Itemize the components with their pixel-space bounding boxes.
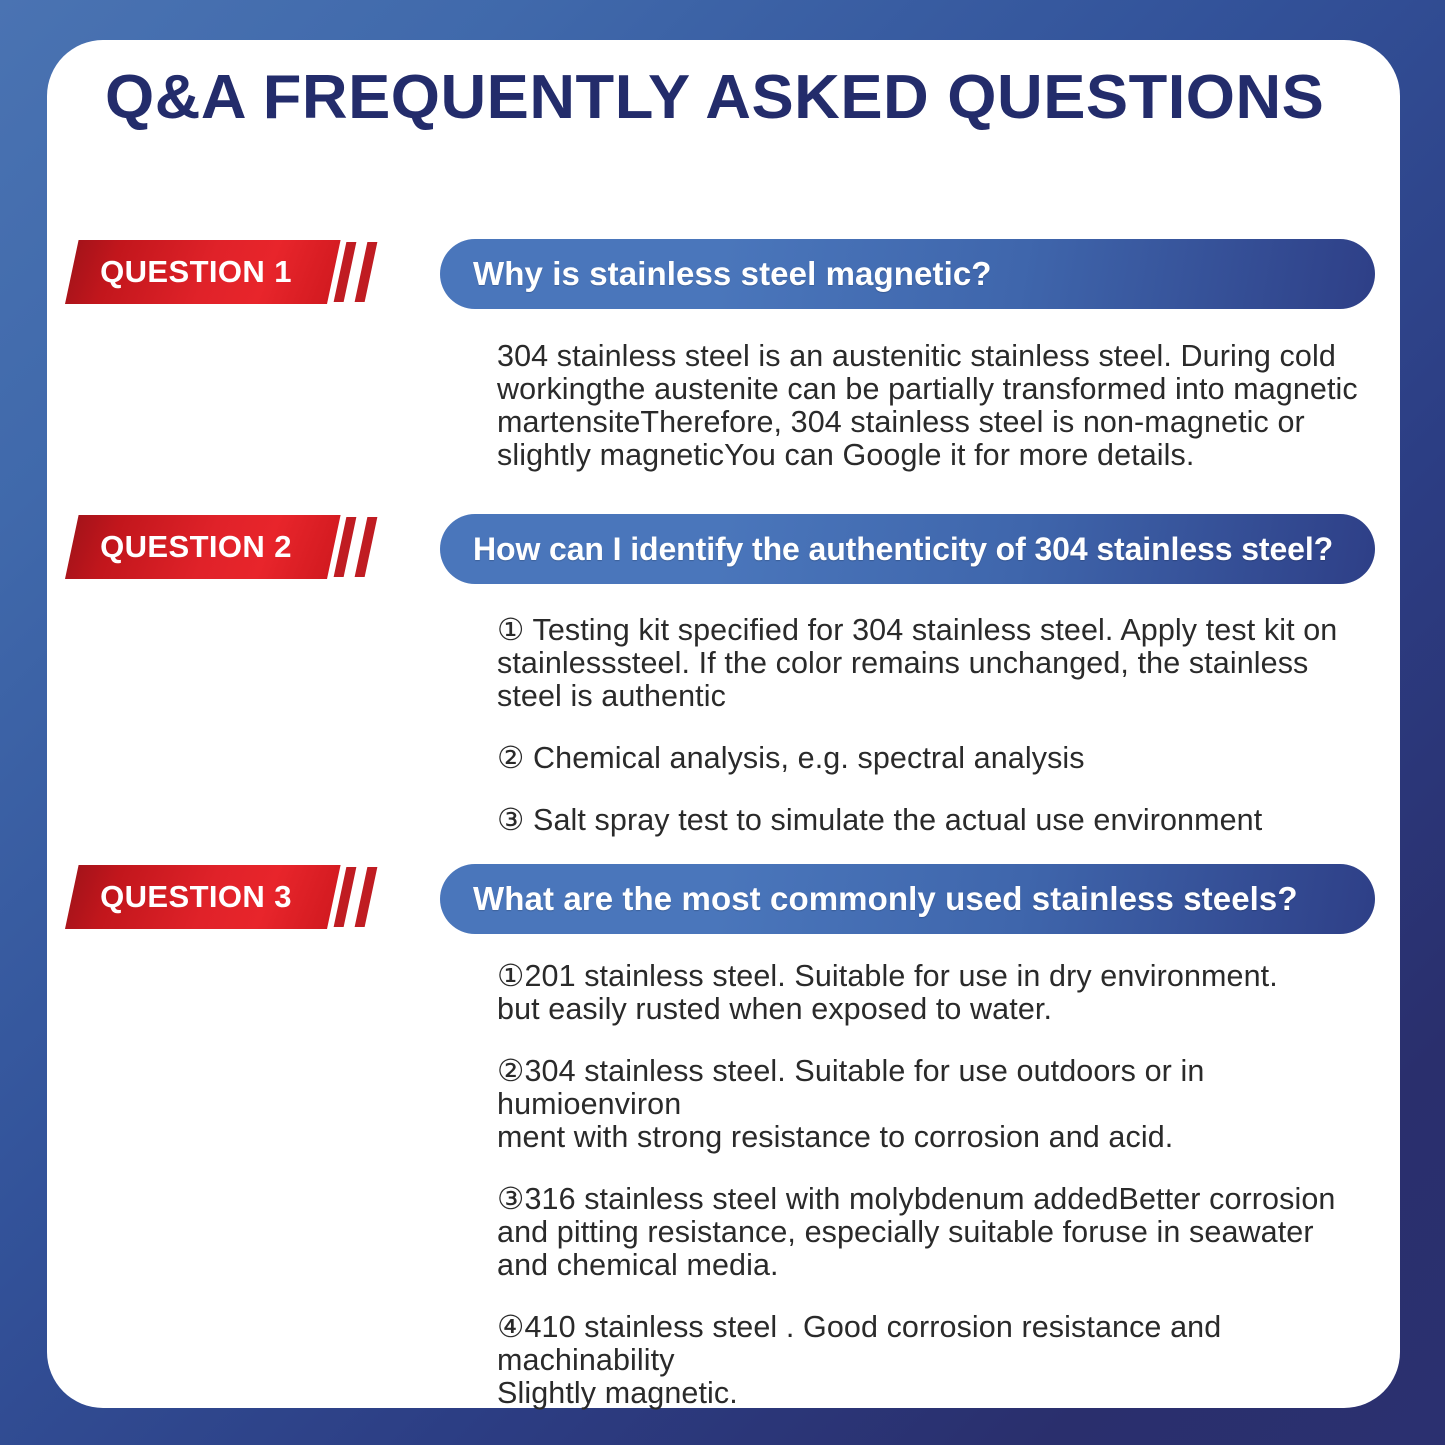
question-text-3: What are the most commonly used stainles… — [440, 880, 1312, 918]
question-pill-3[interactable]: What are the most commonly used stainles… — [440, 864, 1375, 934]
answer-3: ①201 stainless steel. Suitable for use i… — [497, 960, 1373, 1410]
question-badge-1[interactable]: QUESTION 1 — [65, 240, 395, 304]
question-badge-label-1: QUESTION 1 — [65, 240, 327, 304]
question-badge-2[interactable]: QUESTION 2 — [65, 515, 395, 579]
answer-paragraph: ④410 stainless steel . Good corrosion re… — [497, 1311, 1373, 1410]
question-badge-3[interactable]: QUESTION 3 — [65, 865, 395, 929]
question-text-2: How can I identify the authenticity of 3… — [440, 531, 1347, 568]
question-badge-label-2: QUESTION 2 — [65, 515, 327, 579]
slash-icon — [355, 867, 378, 927]
question-text-1: Why is stainless steel magnetic? — [440, 255, 1006, 293]
answer-paragraph: ①201 stainless steel. Suitable for use i… — [497, 960, 1373, 1026]
question-badge-label-3: QUESTION 3 — [65, 865, 327, 929]
answer-paragraph: ② Chemical analysis, e.g. spectral analy… — [497, 742, 1373, 775]
question-pill-2[interactable]: How can I identify the authenticity of 3… — [440, 514, 1375, 584]
page-title: Q&A FREQUENTLY ASKED QUESTIONS — [105, 62, 1329, 133]
answer-paragraph: ③ Salt spray test to simulate the actual… — [497, 804, 1373, 837]
answer-paragraph: ②304 stainless steel. Suitable for use o… — [497, 1055, 1373, 1154]
answer-2: ① Testing kit specified for 304 stainles… — [497, 614, 1373, 837]
slash-icon — [355, 517, 378, 577]
slash-icon — [355, 242, 378, 302]
answer-paragraph: ① Testing kit specified for 304 stainles… — [497, 614, 1373, 713]
answer-1: 304 stainless steel is an austenitic sta… — [497, 340, 1373, 472]
answer-paragraph: ③316 stainless steel with molybdenum add… — [497, 1183, 1373, 1282]
answer-paragraph: 304 stainless steel is an austenitic sta… — [497, 340, 1373, 472]
question-pill-1[interactable]: Why is stainless steel magnetic? — [440, 239, 1375, 309]
